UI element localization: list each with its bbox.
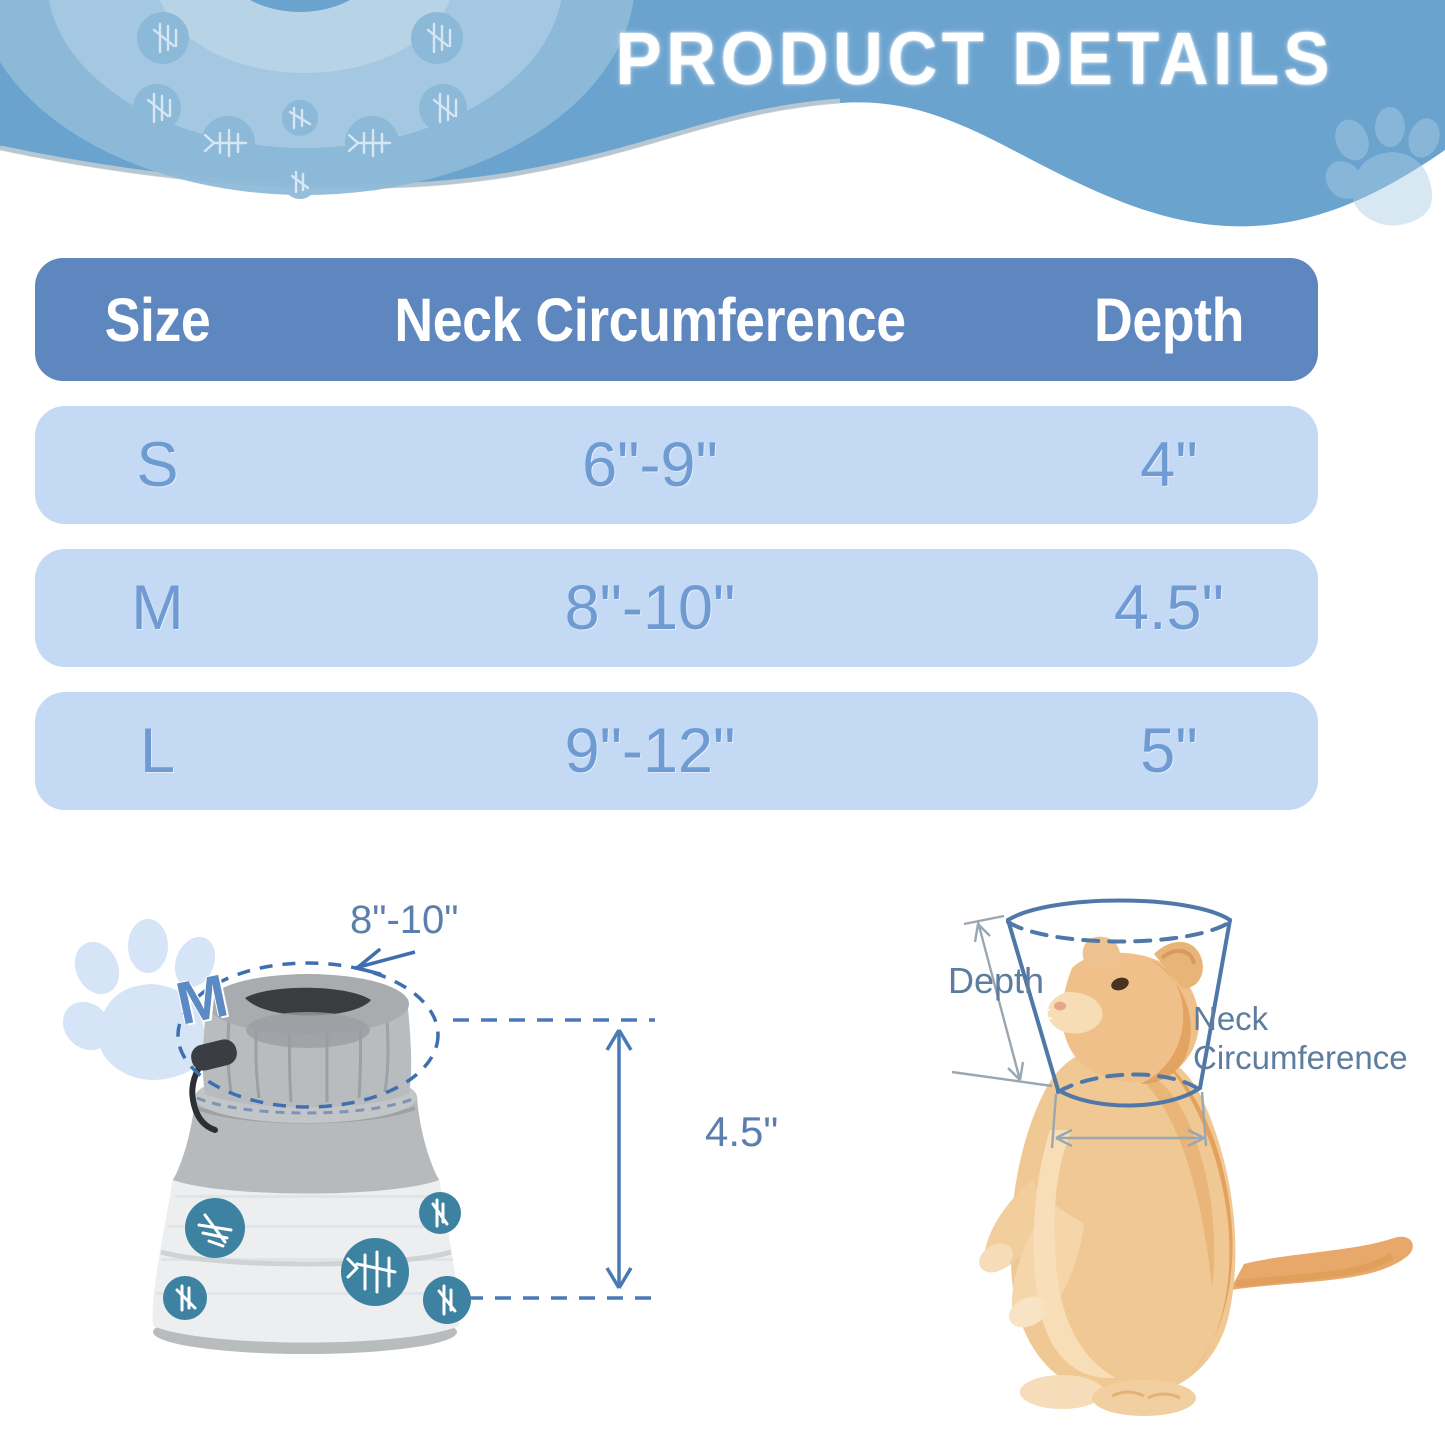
table-row: S 6"-9" 4" [35, 406, 1318, 524]
column-header-neck: Neck Circumference [324, 285, 975, 355]
neck-circumference-label-line2: Circumference [1193, 1039, 1408, 1076]
cell-depth: 4.5" [1020, 572, 1318, 644]
cell-depth: 4" [1020, 429, 1318, 501]
cat-measure-diagram: Depth Neck Circumference [900, 880, 1445, 1445]
page-title: PRODUCT DETAILS [575, 14, 1375, 104]
product-measure-diagram: M 8"-10" 4.5" [55, 880, 775, 1445]
cell-size: L [35, 715, 280, 787]
cell-size: M [35, 572, 280, 644]
cell-depth: 5" [1020, 715, 1318, 787]
table-header-row: Size Neck Circumference Depth [35, 258, 1318, 381]
neck-circumference-label-line1: Neck [1193, 1000, 1268, 1037]
table-row: M 8"-10" 4.5" [35, 549, 1318, 667]
neck-circumference-label: Neck Circumference [1193, 1000, 1403, 1078]
product-diagram-svg [55, 880, 775, 1445]
neck-dimension-label: 8"-10" [350, 898, 458, 943]
depth-dimension-arrow [607, 1030, 631, 1288]
column-header-depth: Depth [1038, 285, 1300, 355]
diagrams-section: M 8"-10" 4.5" [0, 880, 1445, 1445]
cell-neck: 8"-10" [280, 572, 1020, 644]
column-header-size: Size [50, 285, 266, 355]
banner: PRODUCT DETAILS [0, 0, 1445, 235]
size-table: Size Neck Circumference Depth S 6"-9" 4"… [35, 258, 1318, 810]
cell-size: S [35, 429, 280, 501]
product-details-infographic: PRODUCT DETAILS Size Neck Circumference … [0, 0, 1445, 1445]
depth-dimension-label: 4.5" [705, 1108, 778, 1156]
cell-neck: 9"-12" [280, 715, 1020, 787]
cell-neck: 6"-9" [280, 429, 1020, 501]
table-row: L 9"-12" 5" [35, 692, 1318, 810]
depth-label: Depth [948, 960, 1044, 1002]
